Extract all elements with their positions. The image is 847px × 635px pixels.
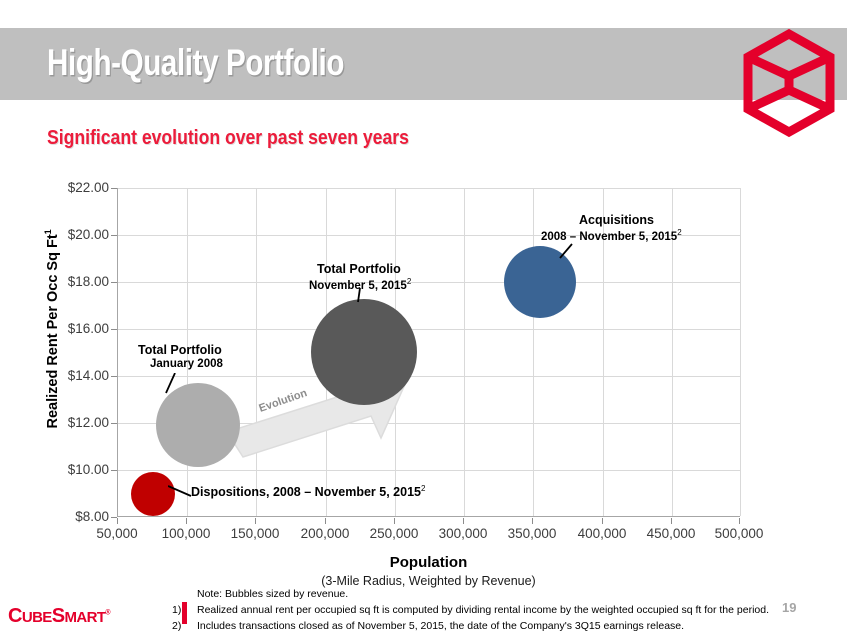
- footer-note: Note: Bubbles sized by revenue.: [197, 588, 348, 600]
- callout-line-1: Total Portfolio: [138, 343, 223, 358]
- x-axis-subtitle: (3-Mile Radius, Weighted by Revenue): [117, 574, 740, 588]
- y-tick-label: $14.00: [49, 368, 109, 383]
- y-tick-label: $22.00: [49, 180, 109, 195]
- y-tick-label: $8.00: [49, 509, 109, 524]
- cubesmart-wordmark: CUBESMART®: [8, 605, 110, 628]
- callout-line-2: January 2008: [138, 358, 223, 372]
- logo-ube: UBE: [22, 609, 52, 626]
- page-title: High-Quality Portfolio: [47, 42, 344, 84]
- callout-superscript: 2: [677, 228, 681, 237]
- y-tick-label: $10.00: [49, 462, 109, 477]
- x-tick-mark: [186, 518, 187, 524]
- gridline-h: [118, 188, 740, 189]
- footnote-2-text: Includes transactions closed as of Novem…: [197, 620, 684, 632]
- leader-line-january-2008: [162, 373, 182, 395]
- footer-red-accent: [182, 602, 187, 624]
- bubble-total-portfolio-november-2015[interactable]: [311, 299, 417, 405]
- x-tick-mark: [602, 518, 603, 524]
- footnote-1-number: 1): [172, 604, 181, 616]
- footnote-1-text: Realized annual rent per occupied sq ft …: [197, 604, 769, 616]
- y-tick-mark: [111, 188, 117, 189]
- gridline-v: [464, 188, 465, 516]
- logo-s: S: [52, 605, 65, 627]
- x-tick-label: 400,000: [578, 526, 627, 541]
- y-tick-mark: [111, 235, 117, 236]
- x-axis-title: Population: [117, 554, 740, 571]
- x-tick-label: 150,000: [231, 526, 280, 541]
- gridline-h: [118, 329, 740, 330]
- callout-superscript: 2: [421, 484, 425, 493]
- x-tick-label: 500,000: [715, 526, 764, 541]
- x-tick-mark: [463, 518, 464, 524]
- callout-total-portfolio-january-2008: Total Portfolio January 2008: [138, 343, 223, 371]
- cubesmart-cube-logo: [742, 28, 837, 138]
- bubble-total-portfolio-january-2008[interactable]: [156, 383, 240, 467]
- x-tick-label: 100,000: [162, 526, 211, 541]
- y-tick-mark: [111, 470, 117, 471]
- y-tick-mark: [111, 376, 117, 377]
- y-tick-label: $16.00: [49, 321, 109, 336]
- x-tick-mark: [394, 518, 395, 524]
- x-tick-mark: [325, 518, 326, 524]
- x-tick-label: 50,000: [96, 526, 137, 541]
- gridline-h: [118, 470, 740, 471]
- gridline-h: [118, 282, 740, 283]
- leader-line-november-2015: [354, 288, 368, 304]
- y-tick-mark: [111, 329, 117, 330]
- footnote-2-number: 2): [172, 620, 181, 632]
- callout-line-1: Total Portfolio: [309, 262, 411, 277]
- x-tick-label: 450,000: [647, 526, 696, 541]
- x-tick-label: 250,000: [370, 526, 419, 541]
- callout-superscript: 2: [407, 277, 411, 286]
- page-number: 19: [782, 600, 796, 615]
- callout-line-1: Dispositions, 2008 – November 5, 20152: [191, 484, 425, 500]
- x-tick-mark: [671, 518, 672, 524]
- gridline-v: [256, 188, 257, 516]
- leader-line-dispositions: [168, 484, 194, 502]
- x-tick-mark: [117, 518, 118, 524]
- y-tick-label: $12.00: [49, 415, 109, 430]
- gridline-v: [533, 188, 534, 516]
- callout-line-1: Acquisitions: [541, 213, 682, 228]
- gridline-v: [740, 188, 741, 516]
- callout-line-2-text: 2008 – November 5, 2015: [541, 231, 677, 243]
- callout-line-1-text: Dispositions, 2008 – November 5, 2015: [191, 485, 421, 499]
- x-tick-label: 350,000: [508, 526, 557, 541]
- plot-area: Evolution Total Portfolio January 2008 T…: [117, 188, 740, 517]
- logo-mart: MART: [64, 609, 105, 626]
- registered-trademark-icon: ®: [105, 609, 110, 616]
- bubble-chart: Realized Rent Per Occ Sq Ft1 Evolution: [0, 170, 847, 560]
- leader-line-acquisitions: [558, 242, 578, 262]
- callout-acquisitions: Acquisitions 2008 – November 5, 20152: [541, 213, 682, 244]
- logo-c: C: [8, 605, 22, 627]
- y-tick-mark: [111, 423, 117, 424]
- x-tick-mark: [532, 518, 533, 524]
- y-tick-mark: [111, 282, 117, 283]
- x-tick-label: 300,000: [439, 526, 488, 541]
- y-tick-label: $18.00: [49, 274, 109, 289]
- x-tick-mark: [739, 518, 740, 524]
- page-subtitle: Significant evolution over past seven ye…: [47, 127, 409, 150]
- x-tick-label: 200,000: [301, 526, 350, 541]
- x-tick-mark: [255, 518, 256, 524]
- callout-dispositions: Dispositions, 2008 – November 5, 20152: [191, 484, 425, 500]
- footer: Note: Bubbles sized by revenue. 1) Reali…: [0, 588, 847, 635]
- y-tick-label: $20.00: [49, 227, 109, 242]
